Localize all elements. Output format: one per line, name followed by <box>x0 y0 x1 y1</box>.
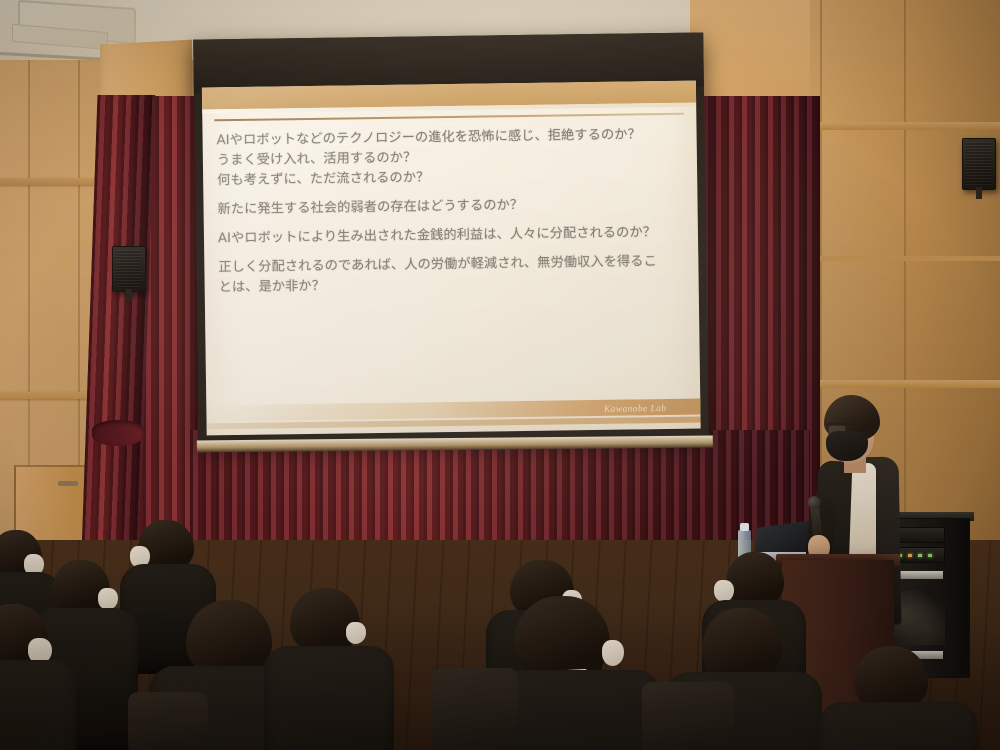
projection-screen: AIやロボットなどのテクノロジーの進化を恐怖に感じ、拒絶するのか？ うまく受け入… <box>193 32 709 443</box>
slide-text-body: AIやロボットなどのテクノロジーの進化を恐怖に感じ、拒絶するのか？ うまく受け入… <box>216 125 686 299</box>
slide-line: 新たに発生する社会的弱者の存在はどうするのか？ <box>217 194 685 221</box>
wall-speaker-icon <box>962 138 996 190</box>
slide-horizontal-rule <box>214 113 684 122</box>
slide-watermark: Kawanobe Lab <box>604 404 667 415</box>
curtain-tieback <box>92 420 144 446</box>
slide-paragraph: 正しく分配されるのであれば、人の労働が軽減され、無労働収入を得るこ とは、是か非… <box>218 252 687 299</box>
slide-line: AIやロボットにより生み出された金銭的利益は、人々に分配されるのか？ <box>218 223 686 250</box>
wall-speaker-icon <box>112 246 146 292</box>
slide-paragraph: 新たに発生する社会的弱者の存在はどうするのか？ <box>217 194 685 221</box>
slide-paragraph: AIやロボットにより生み出された金銭的利益は、人々に分配されるのか？ <box>218 223 686 250</box>
door-handle[interactable] <box>58 481 78 486</box>
chair <box>432 668 518 750</box>
presentation-slide: AIやロボットなどのテクノロジーの進化を恐怖に感じ、拒絶するのか？ うまく受け入… <box>202 81 701 436</box>
slide-paragraph: AIやロボットなどのテクノロジーの進化を恐怖に感じ、拒絶するのか？ うまく受け入… <box>216 125 685 192</box>
lecture-hall-photo: AIやロボットなどのテクノロジーの進化を恐怖に感じ、拒絶するのか？ うまく受け入… <box>0 0 1000 750</box>
chair <box>642 682 734 750</box>
chair <box>128 692 208 750</box>
